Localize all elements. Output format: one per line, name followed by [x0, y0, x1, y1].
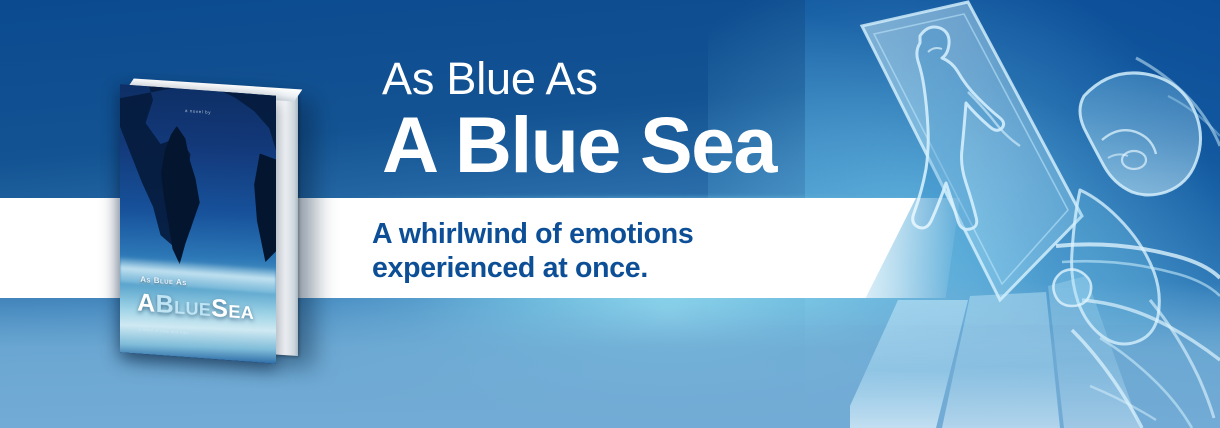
headline-block: As Blue As A Blue Sea: [382, 56, 902, 184]
subtitle-line-2: experienced at once.: [372, 252, 852, 286]
cover-title-sea: Sea: [211, 294, 254, 325]
book-cover-mockup[interactable]: a novel by As Blue As ABlueSea a story o…: [118, 84, 314, 362]
kicker-text: As Blue As: [382, 56, 902, 101]
headline-text: A Blue Sea: [382, 105, 902, 184]
subtitle-block: A whirlwind of emotions experienced at o…: [372, 218, 852, 285]
cover-title-a: A: [137, 289, 155, 318]
book-promo-banner: a novel by As Blue As ABlueSea a story o…: [0, 0, 1220, 428]
subtitle-line-1: A whirlwind of emotions: [372, 218, 693, 250]
cover-title-blue: Blue: [156, 290, 212, 322]
book-front-cover: a novel by As Blue As ABlueSea a story o…: [120, 84, 276, 363]
